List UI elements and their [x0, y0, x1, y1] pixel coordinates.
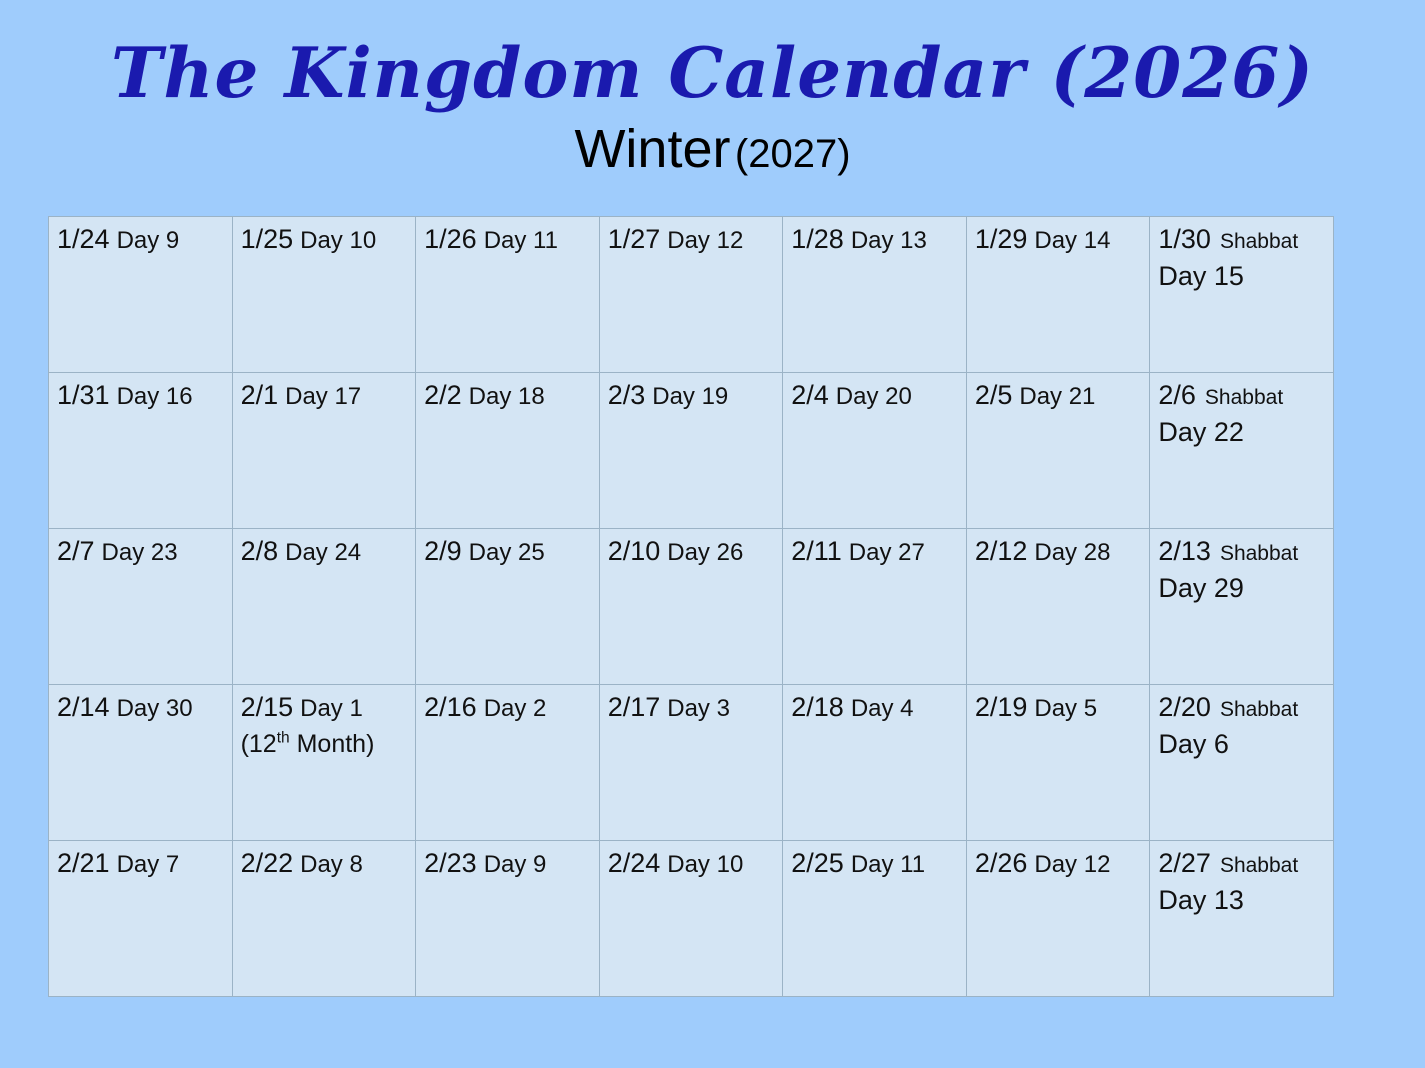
kingdom-day-label: Day 29 — [1158, 572, 1327, 605]
kingdom-day-label: Day 20 — [829, 383, 912, 410]
day-cell-primary-line: 2/13Shabbat — [1158, 535, 1327, 572]
calendar-day-cell[interactable]: 2/2Day 18 — [416, 373, 600, 529]
day-cell-primary-line: 2/3Day 19 — [608, 379, 777, 416]
kingdom-day-label: Day 21 — [1012, 383, 1095, 410]
calendar-day-cell[interactable]: 2/27ShabbatDay 13 — [1150, 841, 1334, 997]
gregorian-date: 2/22 — [241, 848, 294, 878]
kingdom-day-label: Day 17 — [278, 383, 361, 410]
day-cell-primary-line: 2/26Day 12 — [975, 847, 1144, 884]
calendar-day-cell[interactable]: 2/1Day 17 — [232, 373, 416, 529]
calendar-day-cell[interactable]: 2/21Day 7 — [49, 841, 233, 997]
day-cell-primary-line: 2/23Day 9 — [424, 847, 593, 884]
day-cell-primary-line: 2/25Day 11 — [791, 847, 960, 884]
kingdom-day-label: Day 24 — [278, 539, 361, 566]
gregorian-date: 2/14 — [57, 692, 110, 722]
calendar-week-row: 1/31Day 162/1Day 172/2Day 182/3Day 192/4… — [49, 373, 1334, 529]
day-cell-primary-line: 2/1Day 17 — [241, 379, 410, 416]
kingdom-day-label: Day 27 — [842, 539, 925, 566]
calendar-day-cell[interactable]: 2/20ShabbatDay 6 — [1150, 685, 1334, 841]
kingdom-day-label: Day 14 — [1027, 227, 1110, 254]
gregorian-date: 2/7 — [57, 536, 95, 566]
calendar-day-cell[interactable]: 2/13ShabbatDay 29 — [1150, 529, 1334, 685]
calendar-day-cell[interactable]: 2/18Day 4 — [783, 685, 967, 841]
shabbat-label: Shabbat — [1211, 230, 1298, 253]
gregorian-date: 2/18 — [791, 692, 844, 722]
day-cell-primary-line: 2/15Day 1 — [241, 691, 410, 728]
gregorian-date: 2/4 — [791, 380, 829, 410]
kingdom-day-label: Day 5 — [1027, 695, 1097, 722]
season-subtitle: Winter (2027) — [0, 120, 1425, 192]
day-cell-primary-line: 2/11Day 27 — [791, 535, 960, 572]
day-cell-primary-line: 2/12Day 28 — [975, 535, 1144, 572]
calendar-week-row: 2/14Day 302/15Day 1(12th Month)2/16Day 2… — [49, 685, 1334, 841]
calendar-day-cell[interactable]: 2/14Day 30 — [49, 685, 233, 841]
calendar-day-cell[interactable]: 2/25Day 11 — [783, 841, 967, 997]
calendar-day-cell[interactable]: 2/26Day 12 — [966, 841, 1150, 997]
day-cell-primary-line: 2/14Day 30 — [57, 691, 226, 728]
kingdom-day-label: Day 23 — [95, 539, 178, 566]
calendar-grid: 1/24Day 91/25Day 101/26Day 111/27Day 121… — [48, 216, 1334, 997]
gregorian-date: 2/15 — [241, 692, 294, 722]
kingdom-day-label: Day 28 — [1027, 539, 1110, 566]
day-cell-primary-line: 1/25Day 10 — [241, 223, 410, 260]
kingdom-day-label: Day 19 — [645, 383, 728, 410]
gregorian-date: 2/17 — [608, 692, 661, 722]
kingdom-day-label: Day 7 — [110, 851, 180, 878]
day-cell-primary-line: 2/5Day 21 — [975, 379, 1144, 416]
gregorian-date: 2/27 — [1158, 848, 1211, 878]
day-cell-primary-line: 2/16Day 2 — [424, 691, 593, 728]
calendar-day-cell[interactable]: 2/12Day 28 — [966, 529, 1150, 685]
day-cell-primary-line: 2/6Shabbat — [1158, 379, 1327, 416]
kingdom-day-label: Day 4 — [844, 695, 914, 722]
calendar-day-cell[interactable]: 2/10Day 26 — [599, 529, 783, 685]
kingdom-day-label: Day 22 — [1158, 416, 1327, 449]
calendar-day-cell[interactable]: 2/17Day 3 — [599, 685, 783, 841]
gregorian-date: 2/20 — [1158, 692, 1211, 722]
gregorian-date: 2/11 — [791, 536, 842, 566]
kingdom-day-label: Day 10 — [293, 227, 376, 254]
kingdom-day-label: Day 30 — [110, 695, 193, 722]
day-cell-primary-line: 2/24Day 10 — [608, 847, 777, 884]
gregorian-date: 1/24 — [57, 224, 110, 254]
day-cell-primary-line: 1/27Day 12 — [608, 223, 777, 260]
gregorian-date: 2/21 — [57, 848, 110, 878]
gregorian-date: 1/31 — [57, 380, 110, 410]
calendar-day-cell[interactable]: 2/23Day 9 — [416, 841, 600, 997]
day-cell-primary-line: 2/10Day 26 — [608, 535, 777, 572]
calendar-day-cell[interactable]: 2/16Day 2 — [416, 685, 600, 841]
shabbat-label: Shabbat — [1211, 542, 1298, 565]
day-cell-primary-line: 2/7Day 23 — [57, 535, 226, 572]
kingdom-day-label: Day 15 — [1158, 260, 1327, 293]
day-cell-primary-line: 2/17Day 3 — [608, 691, 777, 728]
calendar-week-row: 2/21Day 72/22Day 82/23Day 92/24Day 102/2… — [49, 841, 1334, 997]
day-cell-primary-line: 2/2Day 18 — [424, 379, 593, 416]
header: The Kingdom Calendar (2026) Winter (2027… — [0, 34, 1425, 192]
day-cell-primary-line: 2/21Day 7 — [57, 847, 226, 884]
calendar-day-cell[interactable]: 2/5Day 21 — [966, 373, 1150, 529]
season-name: Winter — [574, 119, 730, 179]
calendar-day-cell[interactable]: 2/15Day 1(12th Month) — [232, 685, 416, 841]
gregorian-date: 2/3 — [608, 380, 646, 410]
day-cell-primary-line: 1/30Shabbat — [1158, 223, 1327, 260]
kingdom-day-label: Day 9 — [477, 851, 547, 878]
calendar-day-cell[interactable]: 2/22Day 8 — [232, 841, 416, 997]
kingdom-day-label: Day 25 — [462, 539, 545, 566]
kingdom-day-label: Day 13 — [1158, 884, 1327, 917]
day-cell-primary-line: 1/24Day 9 — [57, 223, 226, 260]
gregorian-date: 1/30 — [1158, 224, 1211, 254]
kingdom-day-label: Day 12 — [660, 227, 743, 254]
gregorian-date: 2/5 — [975, 380, 1013, 410]
calendar-day-cell[interactable]: 2/11Day 27 — [783, 529, 967, 685]
kingdom-day-label: Day 13 — [844, 227, 927, 254]
gregorian-date: 2/12 — [975, 536, 1028, 566]
season-year: (2027) — [735, 132, 851, 176]
kingdom-day-label: Day 6 — [1158, 728, 1327, 761]
calendar-day-cell[interactable]: 2/4Day 20 — [783, 373, 967, 529]
month-note: (12th Month) — [241, 728, 410, 760]
kingdom-day-label: Day 16 — [110, 383, 193, 410]
month-note-ordinal-suffix: th — [277, 730, 290, 747]
day-cell-primary-line: 2/18Day 4 — [791, 691, 960, 728]
gregorian-date: 2/10 — [608, 536, 661, 566]
calendar-day-cell[interactable]: 1/30ShabbatDay 15 — [1150, 217, 1334, 373]
calendar-day-cell[interactable]: 1/29Day 14 — [966, 217, 1150, 373]
month-note-suffix: Month) — [290, 730, 375, 758]
kingdom-day-label: Day 12 — [1027, 851, 1110, 878]
calendar-day-cell[interactable]: 1/26Day 11 — [416, 217, 600, 373]
month-note-prefix: (12 — [241, 730, 277, 758]
gregorian-date: 2/1 — [241, 380, 279, 410]
day-cell-primary-line: 2/9Day 25 — [424, 535, 593, 572]
gregorian-date: 1/27 — [608, 224, 661, 254]
gregorian-date: 1/26 — [424, 224, 477, 254]
shabbat-label: Shabbat — [1196, 386, 1283, 409]
day-cell-primary-line: 2/8Day 24 — [241, 535, 410, 572]
gregorian-date: 2/23 — [424, 848, 477, 878]
gregorian-date: 2/25 — [791, 848, 844, 878]
gregorian-date: 2/6 — [1158, 380, 1196, 410]
kingdom-day-label: Day 8 — [293, 851, 363, 878]
day-cell-primary-line: 2/27Shabbat — [1158, 847, 1327, 884]
gregorian-date: 1/25 — [241, 224, 294, 254]
day-cell-primary-line: 2/22Day 8 — [241, 847, 410, 884]
calendar-day-cell[interactable]: 1/28Day 13 — [783, 217, 967, 373]
calendar-day-cell[interactable]: 1/31Day 16 — [49, 373, 233, 529]
kingdom-day-label: Day 18 — [462, 383, 545, 410]
kingdom-day-label: Day 26 — [660, 539, 743, 566]
shabbat-label: Shabbat — [1211, 854, 1298, 877]
gregorian-date: 1/28 — [791, 224, 844, 254]
kingdom-day-label: Day 2 — [477, 695, 547, 722]
calendar-day-cell[interactable]: 2/8Day 24 — [232, 529, 416, 685]
calendar-day-cell[interactable]: 2/3Day 19 — [599, 373, 783, 529]
day-cell-primary-line: 1/29Day 14 — [975, 223, 1144, 260]
calendar-day-cell[interactable]: 2/6ShabbatDay 22 — [1150, 373, 1334, 529]
kingdom-day-label: Day 9 — [110, 227, 180, 254]
calendar-day-cell[interactable]: 1/24Day 9 — [49, 217, 233, 373]
calendar-week-row: 1/24Day 91/25Day 101/26Day 111/27Day 121… — [49, 217, 1334, 373]
day-cell-primary-line: 1/31Day 16 — [57, 379, 226, 416]
gregorian-date: 2/13 — [1158, 536, 1211, 566]
gregorian-date: 2/19 — [975, 692, 1028, 722]
gregorian-date: 1/29 — [975, 224, 1028, 254]
calendar-day-cell[interactable]: 1/25Day 10 — [232, 217, 416, 373]
kingdom-day-label: Day 3 — [660, 695, 730, 722]
gregorian-date: 2/9 — [424, 536, 462, 566]
day-cell-primary-line: 2/19Day 5 — [975, 691, 1144, 728]
gregorian-date: 2/2 — [424, 380, 462, 410]
gregorian-date: 2/8 — [241, 536, 279, 566]
kingdom-day-label: Day 11 — [477, 227, 558, 254]
calendar-day-cell[interactable]: 1/27Day 12 — [599, 217, 783, 373]
page-title: The Kingdom Calendar (2026) — [0, 34, 1425, 114]
kingdom-day-label: Day 11 — [844, 851, 925, 878]
day-cell-primary-line: 1/28Day 13 — [791, 223, 960, 260]
calendar-day-cell[interactable]: 2/7Day 23 — [49, 529, 233, 685]
kingdom-day-label: Day 10 — [660, 851, 743, 878]
shabbat-label: Shabbat — [1211, 698, 1298, 721]
calendar-body: 1/24Day 91/25Day 101/26Day 111/27Day 121… — [49, 217, 1334, 997]
calendar-day-cell[interactable]: 2/24Day 10 — [599, 841, 783, 997]
calendar-day-cell[interactable]: 2/9Day 25 — [416, 529, 600, 685]
kingdom-day-label: Day 1 — [293, 695, 363, 722]
calendar-week-row: 2/7Day 232/8Day 242/9Day 252/10Day 262/1… — [49, 529, 1334, 685]
gregorian-date: 2/26 — [975, 848, 1028, 878]
day-cell-primary-line: 2/20Shabbat — [1158, 691, 1327, 728]
gregorian-date: 2/24 — [608, 848, 661, 878]
gregorian-date: 2/16 — [424, 692, 477, 722]
day-cell-primary-line: 1/26Day 11 — [424, 223, 593, 260]
day-cell-primary-line: 2/4Day 20 — [791, 379, 960, 416]
calendar-page: The Kingdom Calendar (2026) Winter (2027… — [0, 0, 1425, 1068]
calendar-day-cell[interactable]: 2/19Day 5 — [966, 685, 1150, 841]
